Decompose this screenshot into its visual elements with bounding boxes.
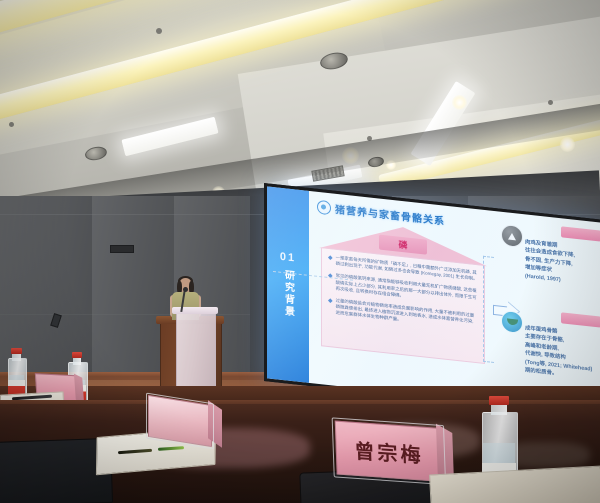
feed-bowl-icon [501,310,523,334]
slide-content-card: 磷 ◆ 一是家畜每天所需的矿物质「磷不足」, 日粮中需额外广泛添加无机磷, 其磷… [319,218,487,366]
slide-section-number: 01 [280,251,296,265]
bullet-dot-icon: ◆ [328,297,333,316]
slide-section-label: 研究背景 [282,269,295,318]
arrow-up-circle-icon [501,224,523,248]
card-lines: 成年蛋鸡骨骼 主要存在于骨骼, 高峰和老龄期, 代谢快, 导致结构 (Tong等… [525,324,599,382]
bullet-dot-icon: ◆ [328,254,333,267]
name-tent-card [148,400,228,446]
slide-right-card: 肉鸡及育雏期 往往会造成食欲下降, 骨不固, 生产力下降, 增加等症状 (Har… [515,221,599,230]
card-heading-text: 磷 [398,238,407,252]
recessed-downlight [560,137,575,152]
presentation-slide[interactable]: 01 研究背景 猪营养与家畜骨骼关系 磷 ◆ 一是家畜每天所需的矿物质「磷不足」… [267,186,600,414]
card-badge [561,312,600,327]
bullet-dot-icon: ◆ [328,272,333,291]
recessed-downlight [452,95,467,110]
led-screen[interactable]: 01 研究背景 猪营养与家畜骨骼关系 磷 ◆ 一是家畜每天所需的矿物质「磷不足」… [264,183,600,418]
ceiling-speaker [84,145,108,162]
bottle-cap [489,396,509,405]
podium-top [172,307,218,314]
slide-title-icon [317,199,331,215]
bottle-cap [11,348,21,354]
slide-section-band: 01 研究背景 [267,186,309,383]
wall-mounted-speaker [110,245,134,253]
sprinkler-head [156,28,162,34]
conference-room-photo: 01 研究背景 猪营养与家畜骨骼关系 磷 ◆ 一是家畜每天所需的矿物质「磷不足」… [0,0,600,503]
card-lines: 肉鸡及育雏期 往往会造成食欲下降, 骨不固, 生产力下降, 增加等症状 (Har… [525,238,599,288]
sprinkler-head [548,100,553,105]
card-badge [561,226,600,241]
slide-right-card: 成年蛋鸡骨骼 主要存在于骨骼, 高峰和老龄期, 代谢快, 导致结构 (Tong等… [515,307,599,316]
bottle-cap [72,352,83,358]
sprinkler-head [9,122,14,127]
card-body: ◆ 一是家畜每天所需的矿物质「磷不足」, 日粮中需额外广泛添加无机磷, 其磷过剩… [321,247,485,364]
name-card-holder [146,393,214,450]
microphone-head-icon [183,287,188,292]
